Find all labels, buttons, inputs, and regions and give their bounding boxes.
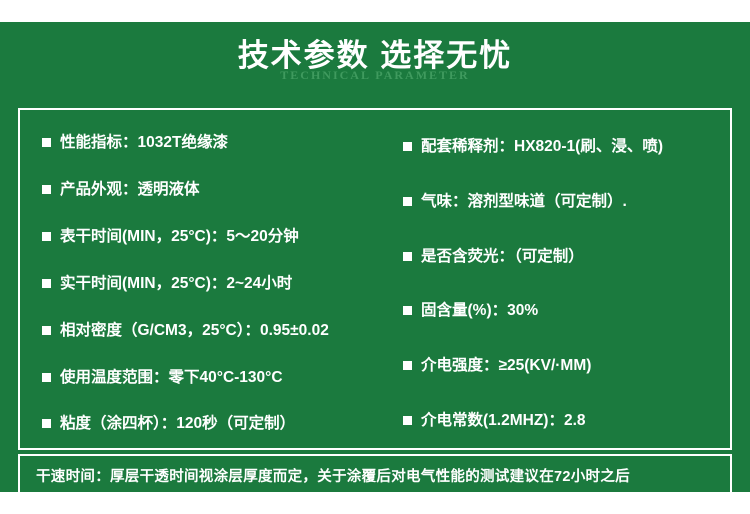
spec-text: 使用温度范围：零下40°C-130°C xyxy=(60,368,283,388)
spec-panel: 性能指标：1032T绝缘漆 产品外观：透明液体 表干时间(MIN，25°C)：5… xyxy=(18,108,732,450)
list-item: 表干时间(MIN，25°C)：5～20分钟 xyxy=(42,227,367,247)
square-bullet-icon xyxy=(42,373,51,382)
square-bullet-icon xyxy=(42,232,51,241)
spec-column-right: 配套稀释剂：HX820-1(刷、浸、喷) 气味：溶剂型味道（可定制）. 是否含荧… xyxy=(375,110,730,448)
spec-text: 性能指标：1032T绝缘漆 xyxy=(60,133,228,153)
square-bullet-icon xyxy=(42,138,51,147)
spec-text: 粘度（涂四杯）：120秒（可定制） xyxy=(60,414,295,434)
list-item: 固含量(%)：30% xyxy=(403,301,722,321)
spec-text: 介电常数(1.2MHZ)：2.8 xyxy=(421,411,586,431)
spec-text: 配套稀释剂：HX820-1(刷、浸、喷) xyxy=(421,137,663,157)
spec-text: 气味：溶剂型味道（可定制）. xyxy=(421,192,627,212)
square-bullet-icon xyxy=(42,326,51,335)
list-item: 实干时间(MIN，25°C)：2~24小时 xyxy=(42,274,367,294)
list-item: 配套稀释剂：HX820-1(刷、浸、喷) xyxy=(403,137,722,157)
list-item: 使用温度范围：零下40°C-130°C xyxy=(42,368,367,388)
list-item: 相对密度（G/CM3，25°C）：0.95±0.02 xyxy=(42,321,367,341)
list-item: 性能指标：1032T绝缘漆 xyxy=(42,133,367,153)
square-bullet-icon xyxy=(403,142,412,151)
square-bullet-icon xyxy=(403,252,412,261)
list-item: 粘度（涂四杯）：120秒（可定制） xyxy=(42,414,367,434)
spec-column-left: 性能指标：1032T绝缘漆 产品外观：透明液体 表干时间(MIN，25°C)：5… xyxy=(20,110,375,448)
square-bullet-icon xyxy=(42,279,51,288)
spec-text: 固含量(%)：30% xyxy=(421,301,538,321)
spec-text: 相对密度（G/CM3，25°C）：0.95±0.02 xyxy=(60,321,329,341)
spec-banner: 技术参数 选择无忧 TECHNICAL PARAMETER 性能指标：1032T… xyxy=(0,22,750,492)
square-bullet-icon xyxy=(403,197,412,206)
list-item: 介电强度：≥25(KV/·MM) xyxy=(403,356,722,376)
spec-text: 实干时间(MIN，25°C)：2~24小时 xyxy=(60,274,292,294)
square-bullet-icon xyxy=(403,306,412,315)
page-subtitle: TECHNICAL PARAMETER xyxy=(0,68,750,83)
list-item: 是否含荧光：（可定制） xyxy=(403,247,722,267)
list-item: 介电常数(1.2MHZ)：2.8 xyxy=(403,411,722,431)
spec-text: 表干时间(MIN，25°C)：5～20分钟 xyxy=(60,227,299,247)
list-item: 产品外观：透明液体 xyxy=(42,180,367,200)
square-bullet-icon xyxy=(403,361,412,370)
spec-text: 介电强度：≥25(KV/·MM) xyxy=(421,356,591,376)
spec-text: 是否含荧光：（可定制） xyxy=(421,247,584,267)
footer-note: 干速时间：厚层干透时间视涂层厚度而定，关于涂覆后对电气性能的测试建议在72小时之… xyxy=(18,454,732,496)
list-item: 气味：溶剂型味道（可定制）. xyxy=(403,192,722,212)
square-bullet-icon xyxy=(42,419,51,428)
spec-text: 产品外观：透明液体 xyxy=(60,180,200,200)
square-bullet-icon xyxy=(42,185,51,194)
square-bullet-icon xyxy=(403,416,412,425)
title-block: 技术参数 选择无忧 TECHNICAL PARAMETER xyxy=(0,30,750,98)
